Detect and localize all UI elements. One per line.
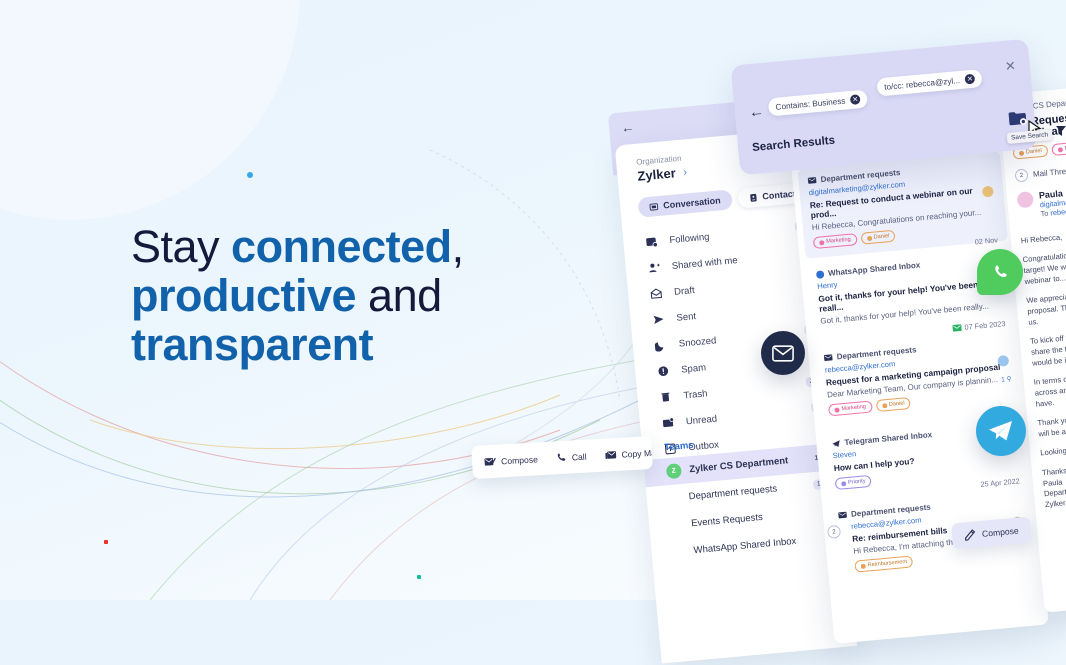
tab-conversation[interactable]: Conversation bbox=[637, 189, 732, 217]
following-icon bbox=[645, 235, 658, 248]
headline-word-and: and bbox=[356, 270, 442, 321]
tag-label: Priority bbox=[848, 478, 866, 486]
sidebar-item-label: Sent bbox=[676, 311, 696, 324]
whatsapp-dot-icon bbox=[816, 270, 825, 279]
sidebar-item-label: Shared with me bbox=[671, 255, 738, 272]
search-chip-label: Contains: Business bbox=[775, 96, 846, 111]
copy-mail-icon bbox=[604, 449, 617, 460]
folder-search-icon bbox=[1007, 109, 1028, 127]
mail-date: 02 Nov bbox=[974, 235, 998, 246]
close-icon[interactable]: ✕ bbox=[1004, 58, 1016, 75]
body-paragraph: Hi Rebecca, bbox=[1020, 224, 1066, 247]
view-switcher: Conversation Contacts bbox=[637, 182, 812, 218]
body-paragraph: Congratulations on reaching your target!… bbox=[1022, 242, 1066, 287]
headline-word-transparent: transparent bbox=[131, 319, 373, 370]
body-paragraph: In terms of the agenda, please send acro… bbox=[1033, 365, 1066, 410]
trash-icon bbox=[659, 391, 672, 404]
mail-icon bbox=[838, 511, 848, 519]
whatsapp-icon bbox=[988, 260, 1012, 284]
phone-icon bbox=[555, 452, 567, 464]
signature-block: Thanks a lot, Paula Department requests … bbox=[1042, 457, 1066, 511]
mail-icon bbox=[823, 354, 833, 362]
unread-icon bbox=[661, 416, 674, 429]
avatar: Z bbox=[666, 463, 682, 479]
team-label: WhatsApp Shared Inbox bbox=[693, 536, 797, 556]
headline-word-connected: connected bbox=[231, 221, 452, 272]
compose-button-label: Compose bbox=[982, 526, 1020, 539]
body-paragraph: Thank you for your time, we are sure it … bbox=[1037, 406, 1066, 440]
contacts-icon bbox=[748, 192, 758, 202]
shared-user-icon bbox=[647, 261, 660, 274]
body-paragraph: To kick off the discussion, could you sh… bbox=[1030, 324, 1066, 369]
close-circle-icon[interactable]: ✕ bbox=[850, 94, 861, 105]
green-mail-icon bbox=[952, 324, 962, 332]
headline-word-productive: productive bbox=[131, 270, 356, 321]
headline-comma: , bbox=[452, 221, 464, 272]
search-chip-tocc[interactable]: to/cc: rebecca@zyl... ✕ bbox=[876, 69, 982, 96]
message-body: Hi Rebecca, Congratulations on reaching … bbox=[1020, 224, 1066, 459]
decor-dot-blue bbox=[247, 172, 253, 178]
search-chip-label: to/cc: rebecca@zyl... bbox=[884, 76, 961, 92]
sidebar-item-label: Following bbox=[669, 231, 710, 246]
body-paragraph: Looking forward to hearing from you. bbox=[1040, 436, 1066, 459]
tag[interactable]: Reimbursement bbox=[854, 555, 913, 572]
back-arrow-icon[interactable]: ← bbox=[748, 103, 764, 121]
mail-thread-label: Mail Thread bbox=[1033, 166, 1066, 179]
envelope-icon bbox=[772, 345, 794, 362]
compose-icon bbox=[964, 528, 977, 541]
telegram-bubble[interactable] bbox=[976, 406, 1026, 456]
tag[interactable]: Priority bbox=[835, 475, 872, 490]
mail-date-label: 02 Nov bbox=[974, 235, 998, 246]
sidebar-item-label: Draft bbox=[674, 285, 696, 298]
telegram-icon bbox=[987, 419, 1015, 443]
search-results-title: Search Results bbox=[752, 135, 836, 154]
team-label: Zylker CS Department bbox=[689, 455, 789, 475]
mail-thread-row[interactable]: 2 Mail Thread bbox=[1014, 158, 1066, 183]
decor-dot-red bbox=[104, 540, 108, 544]
chevron-right-icon[interactable]: › bbox=[683, 166, 688, 178]
page-title: Stay connected, productive and transpare… bbox=[131, 222, 601, 369]
tag-label: Daniel bbox=[1026, 148, 1042, 155]
team-label: Department requests bbox=[688, 483, 777, 502]
save-search-button[interactable] bbox=[1007, 109, 1028, 127]
tag-label: Marketing bbox=[841, 404, 866, 412]
decor-dot-teal bbox=[417, 575, 421, 579]
organization-name: Zylker bbox=[637, 165, 677, 183]
spam-icon bbox=[657, 365, 670, 378]
toolbar-copy-mail-label: Copy Ma bbox=[621, 447, 653, 459]
message-header: Paula digitalmarketing@zylker.com To reb… bbox=[1017, 181, 1066, 228]
toolbar-compose-label: Compose bbox=[501, 454, 538, 466]
body-paragraph: We appreciate your interest in the propo… bbox=[1026, 283, 1066, 328]
toolbar-compose[interactable]: Compose bbox=[484, 454, 538, 467]
tab-conversation-label: Conversation bbox=[663, 195, 721, 210]
sign-off: Thanks a lot, bbox=[1042, 457, 1066, 479]
thread-count-badge: 2 bbox=[1014, 168, 1028, 182]
search-chip-contains[interactable]: Contains: Business ✕ bbox=[768, 90, 868, 117]
compose-icon bbox=[484, 456, 497, 467]
tag[interactable]: Daniel bbox=[860, 230, 896, 245]
tag-label: Reimbursement bbox=[867, 559, 907, 569]
headline-word-stay: Stay bbox=[131, 221, 231, 272]
sidebar-item-label: Trash bbox=[683, 388, 708, 401]
toolbar-call[interactable]: Call bbox=[555, 451, 586, 464]
tag[interactable]: Daniel bbox=[875, 397, 911, 412]
snooze-moon-icon bbox=[654, 339, 667, 352]
mail-icon bbox=[807, 177, 817, 185]
close-circle-icon[interactable]: ✕ bbox=[965, 74, 976, 85]
filter-icon[interactable] bbox=[1054, 124, 1066, 138]
tag[interactable]: Marketing bbox=[813, 233, 857, 249]
tag-label: Daniel bbox=[889, 400, 905, 407]
attachment-count: 1 ⚲ bbox=[1001, 375, 1012, 384]
draft-icon bbox=[650, 287, 663, 300]
tag[interactable]: Marketing bbox=[828, 400, 872, 416]
sidebar-item-label: Spam bbox=[681, 362, 707, 375]
toolbar-call-label: Call bbox=[571, 451, 586, 462]
sent-icon bbox=[652, 313, 665, 326]
tag-label: Marketing bbox=[826, 237, 851, 245]
conversation-icon bbox=[649, 202, 659, 212]
sidebar-item-label: Snoozed bbox=[678, 335, 716, 349]
mail-bubble[interactable] bbox=[761, 331, 805, 375]
tag[interactable]: Marketing bbox=[1051, 140, 1066, 156]
telegram-icon bbox=[831, 439, 841, 448]
tag-label: Daniel bbox=[873, 233, 889, 240]
whatsapp-bubble[interactable] bbox=[977, 249, 1023, 295]
toolbar-copy-mail[interactable]: Copy Ma bbox=[604, 447, 653, 460]
avatar bbox=[1017, 191, 1034, 208]
thread-count-badge: 2 bbox=[827, 525, 841, 539]
team-label: Events Requests bbox=[691, 512, 764, 529]
sidebar-item-label: Unread bbox=[685, 413, 717, 427]
